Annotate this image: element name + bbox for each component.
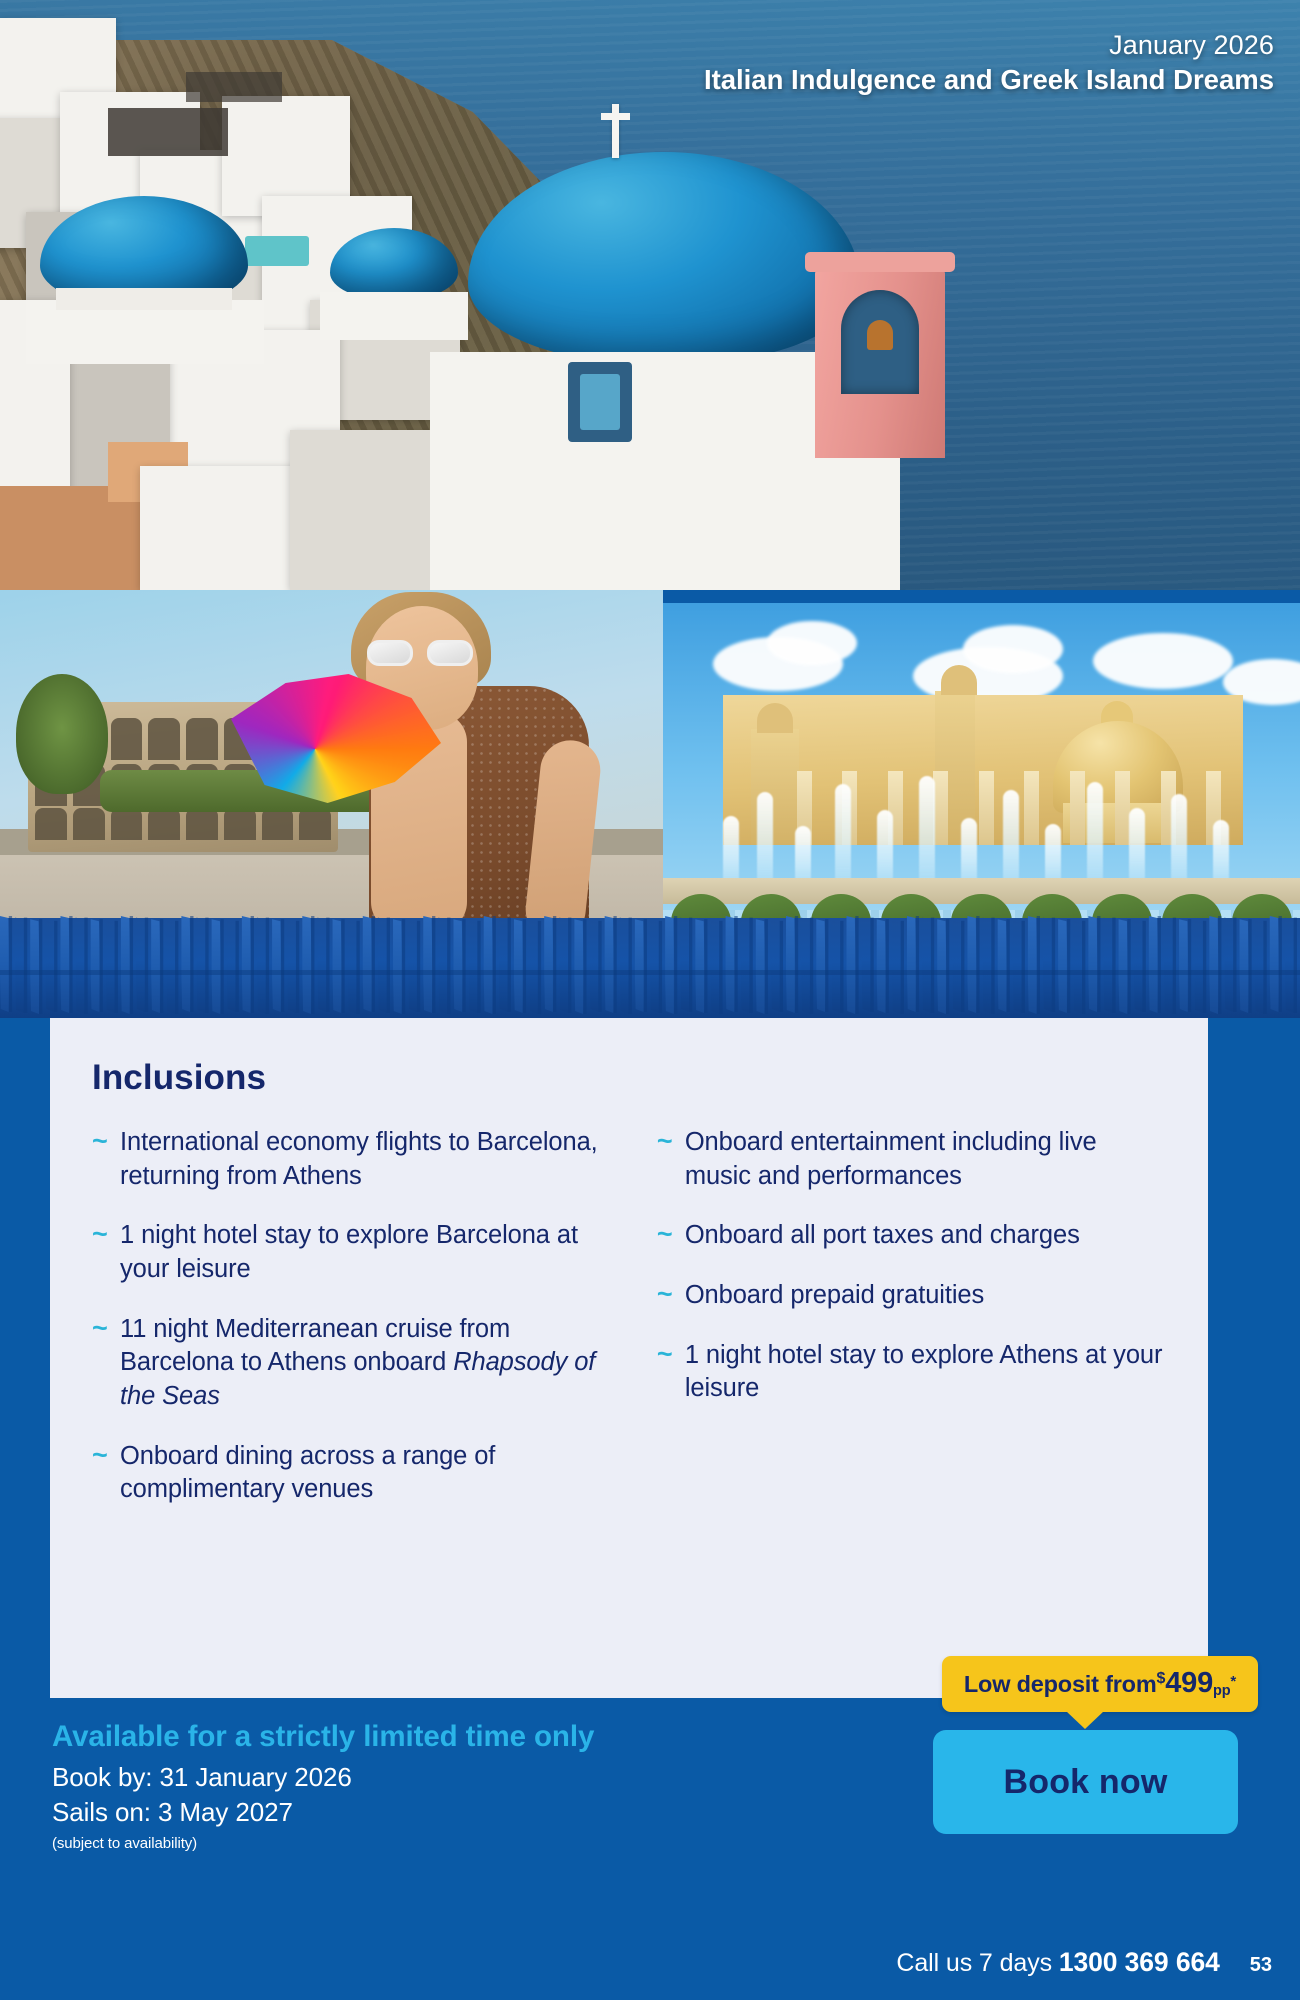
inclusion-bullet: ~Onboard prepaid gratuities bbox=[657, 1279, 1166, 1313]
page-title: Italian Indulgence and Greek Island Drea… bbox=[704, 63, 1274, 96]
inclusion-text: Onboard dining across a range of complim… bbox=[120, 1440, 615, 1507]
tilde-bullet-icon: ~ bbox=[92, 1440, 120, 1469]
tilde-bullet-icon: ~ bbox=[657, 1279, 685, 1308]
inclusion-bullet: ~International economy flights to Barcel… bbox=[92, 1126, 615, 1193]
ship-name: Rhapsody of the Seas bbox=[120, 1348, 595, 1410]
photo-colosseum-woman bbox=[0, 590, 663, 950]
tilde-bullet-icon: ~ bbox=[657, 1126, 685, 1155]
inclusion-bullet: ~Onboard entertainment including live mu… bbox=[657, 1126, 1166, 1193]
brochure-page: January 2026 Italian Indulgence and Gree… bbox=[0, 0, 1300, 2000]
tilde-bullet-icon: ~ bbox=[92, 1313, 120, 1342]
header-date: January 2026 bbox=[704, 30, 1274, 61]
deposit-asterisk: * bbox=[1230, 1673, 1236, 1690]
badge-pointer-icon bbox=[1066, 1711, 1104, 1729]
inclusion-bullet: ~1 night hotel stay to explore Barcelona… bbox=[92, 1219, 615, 1286]
inclusion-text: 1 night hotel stay to explore Athens at … bbox=[685, 1339, 1166, 1406]
tilde-bullet-icon: ~ bbox=[657, 1219, 685, 1248]
book-by-date: Book by: 31 January 2026 bbox=[52, 1760, 594, 1795]
footer: Call us 7 days 1300 369 664 53 bbox=[896, 1947, 1272, 1978]
bell-tower bbox=[815, 268, 945, 458]
call-prefix: Call us 7 days bbox=[896, 1949, 1058, 1977]
inclusion-bullet: ~Onboard all port taxes and charges bbox=[657, 1219, 1166, 1253]
cross-icon bbox=[612, 104, 619, 158]
availability-heading: Available for a strictly limited time on… bbox=[52, 1720, 594, 1754]
inclusion-text: Onboard prepaid gratuities bbox=[685, 1279, 984, 1313]
deposit-per-person: pp bbox=[1213, 1683, 1230, 1699]
availability-note: (subject to availability) bbox=[52, 1835, 594, 1852]
photo-barcelona-palace bbox=[663, 603, 1300, 950]
tilde-bullet-icon: ~ bbox=[657, 1339, 685, 1368]
magic-fountain bbox=[699, 768, 1269, 888]
hero-image-santorini: January 2026 Italian Indulgence and Gree… bbox=[0, 0, 1300, 590]
availability-block: Available for a strictly limited time on… bbox=[52, 1720, 594, 1852]
sunglasses-icon bbox=[367, 640, 473, 668]
inclusion-text: 11 night Mediterranean cruise from Barce… bbox=[120, 1313, 615, 1414]
sails-on-date: Sails on: 3 May 2027 bbox=[52, 1795, 594, 1830]
page-number: 53 bbox=[1250, 1954, 1272, 1977]
inclusion-bullet: ~Onboard dining across a range of compli… bbox=[92, 1440, 615, 1507]
inclusions-left-column: ~International economy flights to Barcel… bbox=[92, 1126, 615, 1533]
inclusion-text: Onboard all port taxes and charges bbox=[685, 1219, 1080, 1253]
deposit-amount: 499 bbox=[1165, 1667, 1213, 1699]
low-deposit-text: Low deposit from$499pp* bbox=[964, 1667, 1236, 1700]
header-block: January 2026 Italian Indulgence and Gree… bbox=[704, 30, 1274, 96]
tilde-bullet-icon: ~ bbox=[92, 1219, 120, 1248]
inclusions-heading: Inclusions bbox=[92, 1058, 1208, 1098]
inclusion-text: Onboard entertainment including live mus… bbox=[685, 1126, 1166, 1193]
photo-strip bbox=[0, 590, 1300, 950]
ruffle-valance-decoration bbox=[0, 912, 1300, 1024]
deposit-currency: $ bbox=[1157, 1670, 1166, 1687]
book-now-button[interactable]: Book now bbox=[933, 1730, 1238, 1834]
tilde-bullet-icon: ~ bbox=[92, 1126, 120, 1155]
inclusion-bullet: ~11 night Mediterranean cruise from Barc… bbox=[92, 1313, 615, 1414]
inclusions-right-column: ~Onboard entertainment including live mu… bbox=[643, 1126, 1166, 1533]
inclusion-text: 1 night hotel stay to explore Barcelona … bbox=[120, 1219, 615, 1286]
inclusion-bullet: ~1 night hotel stay to explore Athens at… bbox=[657, 1339, 1166, 1406]
phone-number[interactable]: 1300 369 664 bbox=[1059, 1947, 1220, 1977]
inclusions-panel: Inclusions ~International economy flight… bbox=[50, 1012, 1208, 1698]
inclusion-text: International economy flights to Barcelo… bbox=[120, 1126, 615, 1193]
call-us-text: Call us 7 days 1300 369 664 bbox=[896, 1947, 1219, 1978]
deposit-label: Low deposit from bbox=[964, 1671, 1157, 1697]
book-now-label: Book now bbox=[1003, 1763, 1167, 1802]
low-deposit-badge: Low deposit from$499pp* bbox=[942, 1656, 1258, 1712]
